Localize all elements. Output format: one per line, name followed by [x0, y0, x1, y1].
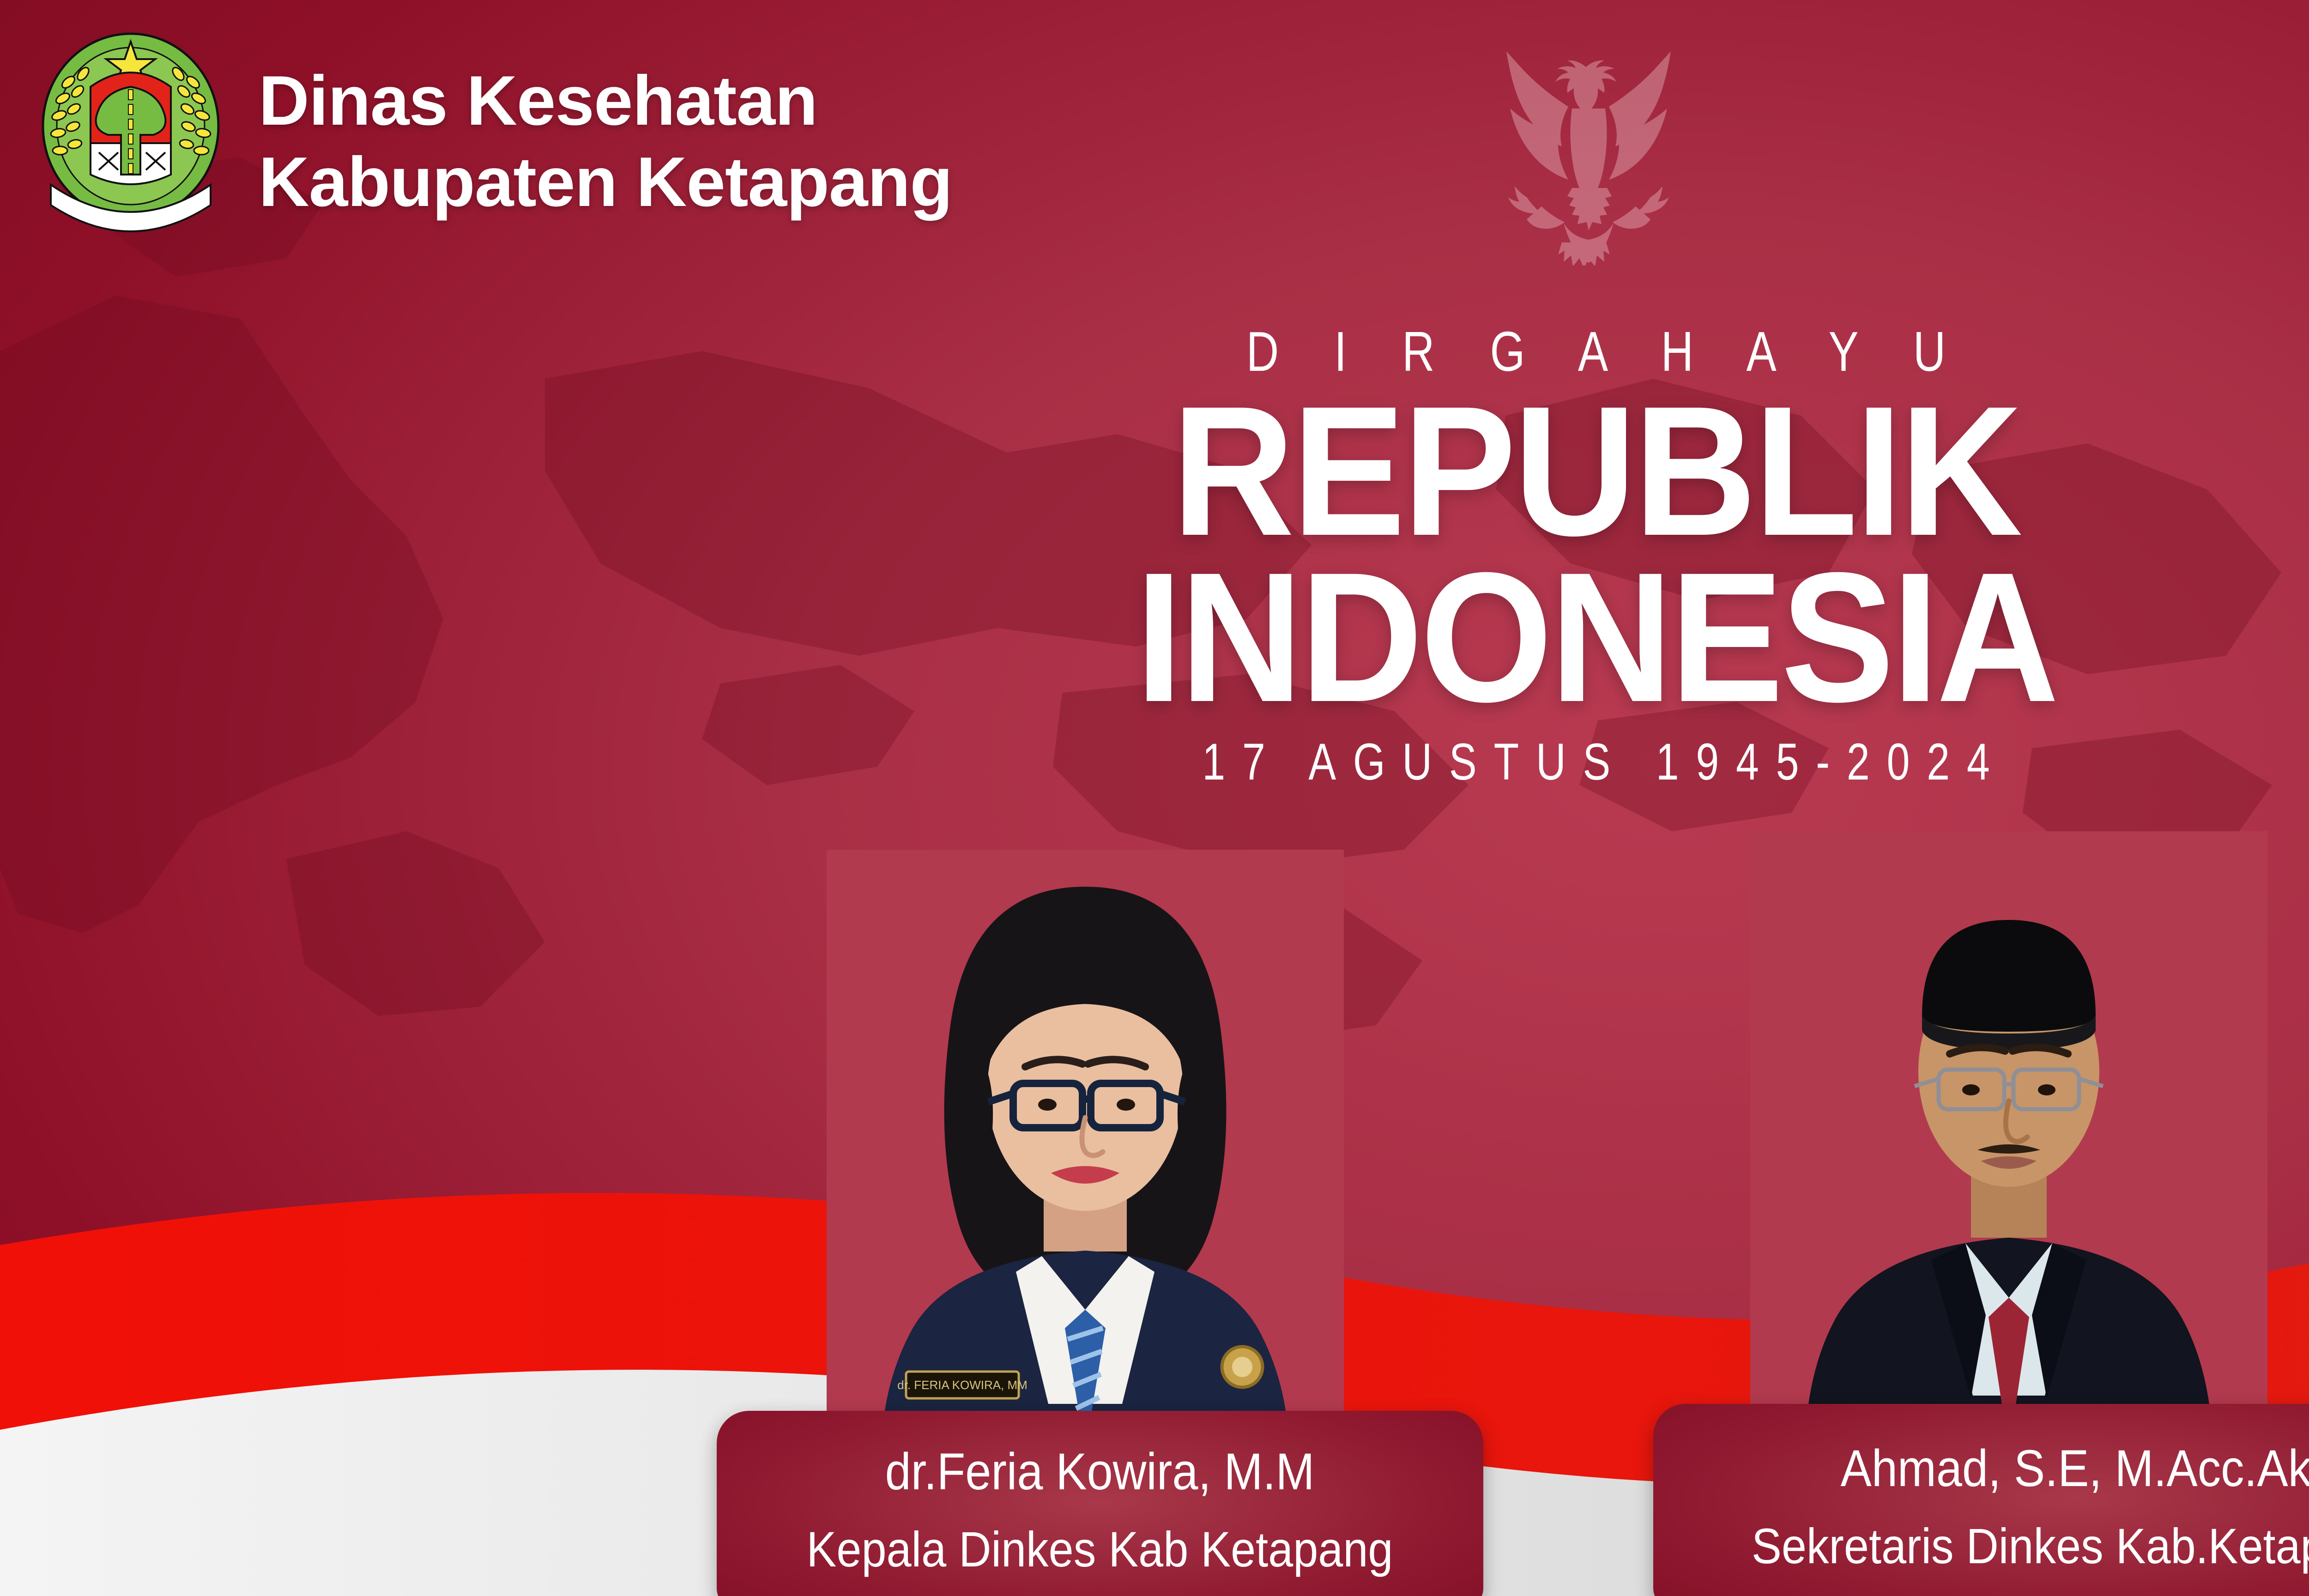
portrait-photo-male-official	[1750, 831, 2267, 1450]
kabupaten-ketapang-coat-of-arms-icon: KABUPATEN KETAPANG	[22, 22, 239, 248]
emblem-ribbon-text: KABUPATEN KETAPANG	[22, 22, 225, 26]
badge-text: dr. FERIA KOWIRA, MM	[897, 1378, 1028, 1392]
portrait-photo-female-official: dr. FERIA KOWIRA, MM	[827, 850, 1344, 1450]
official-name-1: dr.Feria Kowira, M.M	[885, 1442, 1315, 1502]
official-plaque-2: Ahmad, S.E, M.Acc.Ak Sekretaris Dinkes K…	[1653, 1404, 2309, 1596]
garuda-pancasila-icon	[1473, 25, 1704, 266]
official-plaque-1: dr.Feria Kowira, M.M Kepala Dinkes Kab K…	[717, 1411, 1483, 1596]
org-line-1: Dinas Kesehatan	[259, 60, 952, 141]
hero-date: 17 AGUSTUS 1945-2024	[319, 736, 2309, 788]
official-role-1: Kepala Dinkes Kab Ketapang	[807, 1520, 1393, 1578]
org-line-2: Kabupaten Ketapang	[259, 141, 952, 223]
organisation-title: Dinas Kesehatan Kabupaten Ketapang	[259, 60, 952, 223]
official-name-2: Ahmad, S.E, M.Acc.Ak	[1840, 1439, 2309, 1499]
independence-day-banner: KABUPATEN KETAPANG Dinas Kesehatan Kabup…	[0, 0, 2309, 1596]
official-role-2: Sekretaris Dinkes Kab.Ketapang	[1752, 1517, 2309, 1575]
hero-heading: D I R G A H A Y U REPUBLIK INDONESIA 17 …	[0, 323, 2309, 788]
hero-title-line-2: INDONESIA	[127, 554, 2309, 720]
hero-title-line-1: REPUBLIK	[127, 388, 2309, 554]
